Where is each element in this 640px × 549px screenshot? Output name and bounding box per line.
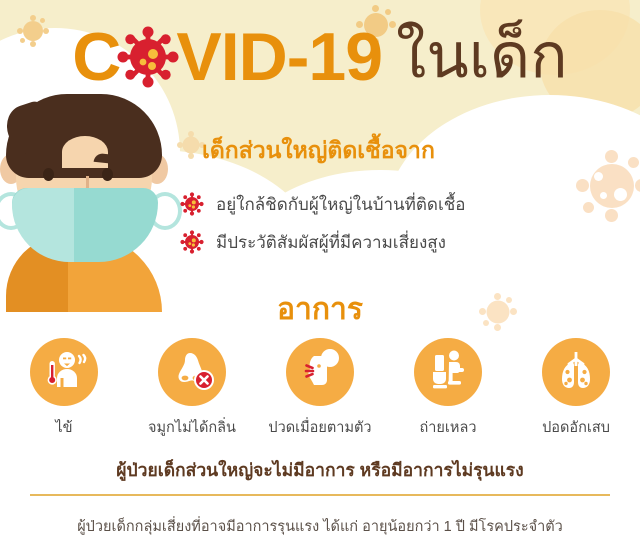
symptom-label: ปวดเมื่อยตามตัว — [268, 416, 371, 439]
body-ache-icon — [297, 347, 343, 398]
symptom-icon-circle — [414, 338, 482, 406]
virus-bullet-icon — [180, 192, 204, 216]
symptom-label: ถ่ายเหลว — [420, 416, 477, 439]
symptom-icon-circle — [286, 338, 354, 406]
boy-hair-parting — [62, 136, 108, 168]
symptom-icon-circle — [158, 338, 226, 406]
list-item: อยู่ใกล้ชิดกับผู้ใหญ่ในบ้านที่ติดเชื้อ — [180, 185, 630, 223]
footer-divider — [30, 494, 610, 496]
virus-bullet-icon — [180, 230, 204, 254]
list-item-label: มีประวัติสัมผัสผู้ที่มีความเสี่ยงสูง — [216, 229, 446, 256]
fever-thermometer-icon — [41, 347, 87, 398]
symptoms-heading: อาการ — [0, 286, 640, 333]
symptom-label: ไข้ — [55, 416, 72, 439]
title-text-vid: VID-19 — [176, 23, 382, 91]
symptom-item: ปอดอักเสบ — [522, 338, 630, 439]
transmission-list: อยู่ใกล้ชิดกับผู้ใหญ่ในบ้านที่ติดเชื้อ — [180, 185, 630, 261]
symptom-item: จมูกไม่ได้กลิ่น — [138, 338, 246, 439]
symptom-item: ถ่ายเหลว — [394, 338, 502, 439]
footer-note-text: ผู้ป่วยเด็กกลุ่มเสี่ยงที่อาจมีอาการรุนแร… — [0, 515, 640, 538]
title-text-thai: ในเด็ก — [396, 26, 568, 88]
face-mask-highlight — [12, 188, 74, 262]
transmission-heading: เด็กส่วนใหญ่ติดเชื้อจาก — [202, 133, 435, 169]
symptom-icon-circle — [542, 338, 610, 406]
poster-title: C VID-19 ในเด็ก — [0, 18, 640, 96]
symptom-icon-circle — [30, 338, 98, 406]
list-item: มีประวัติสัมผัสผู้ที่มีความเสี่ยงสูง — [180, 223, 630, 261]
infographic-poster: C VID-19 ในเด็ก — [0, 0, 640, 549]
symptom-label: ปอดอักเสบ — [542, 416, 610, 439]
toilet-diarrhea-icon — [425, 347, 471, 398]
list-item-label: อยู่ใกล้ชิดกับผู้ใหญ่ในบ้านที่ติดเชื้อ — [216, 191, 466, 218]
boy-wearing-mask-illustration — [0, 92, 178, 304]
boy-eye-left — [43, 168, 54, 181]
lungs-pneumonia-icon — [553, 347, 599, 398]
footer-highlight-text: ผู้ป่วยเด็กส่วนใหญ่จะไม่มีอาการ หรือมีอา… — [0, 456, 640, 484]
nose-no-smell-icon — [169, 347, 215, 398]
title-letter-c: C — [72, 23, 120, 91]
symptom-label: จมูกไม่ได้กลิ่น — [148, 416, 236, 439]
symptoms-list: ไข้ จมูกไม่ได้กลิ่น — [0, 338, 640, 439]
boy-eye-right — [102, 168, 113, 181]
symptom-item: ปวดเมื่อยตามตัว — [266, 338, 374, 439]
symptom-item: ไข้ — [10, 338, 118, 439]
coronavirus-icon — [117, 26, 179, 88]
